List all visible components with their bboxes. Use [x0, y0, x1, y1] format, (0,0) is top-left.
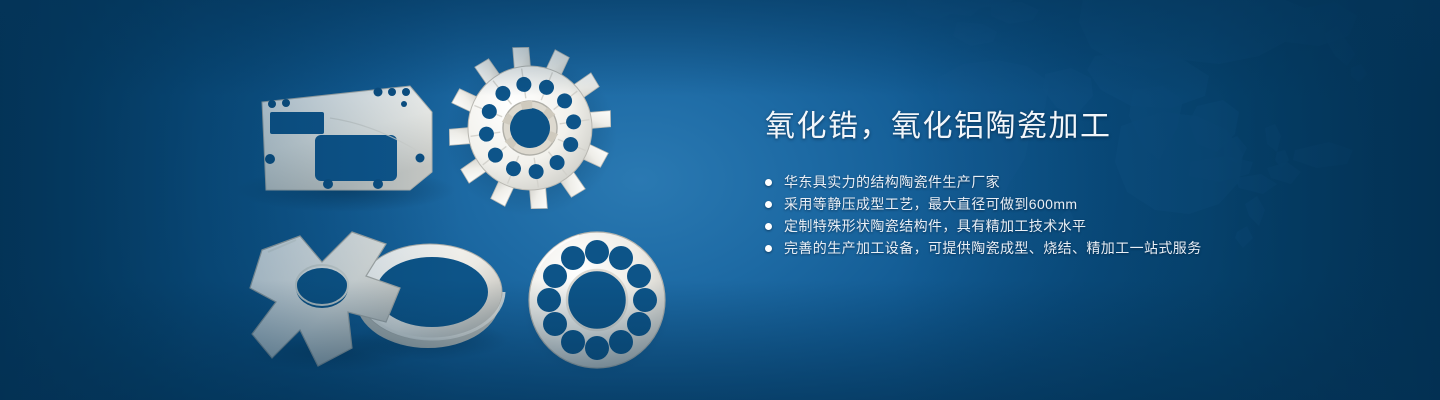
bullet-text: 定制特殊形状陶瓷结构件，具有精加工技术水平: [784, 215, 1086, 237]
promo-banner: 氧化锆，氧化铝陶瓷加工 华东具实力的结构陶瓷件生产厂家 采用等静压成型工艺，最大…: [0, 0, 1440, 400]
list-item: 定制特殊形状陶瓷结构件，具有精加工技术水平: [765, 215, 1385, 237]
feature-bullet-list: 华东具实力的结构陶瓷件生产厂家 采用等静压成型工艺，最大直径可做到600mm 定…: [765, 171, 1385, 259]
bullet-text: 采用等静压成型工艺，最大直径可做到600mm: [784, 193, 1077, 215]
bullet-text: 华东具实力的结构陶瓷件生产厂家: [784, 171, 1000, 193]
list-item: 华东具实力的结构陶瓷件生产厂家: [765, 171, 1385, 193]
bullet-text: 完善的生产加工设备，可提供陶瓷成型、烧结、精加工一站式服务: [784, 237, 1202, 259]
bullet-dot-icon: [765, 223, 772, 230]
list-item: 采用等静压成型工艺，最大直径可做到600mm: [765, 193, 1385, 215]
banner-copy: 氧化锆，氧化铝陶瓷加工 华东具实力的结构陶瓷件生产厂家 采用等静压成型工艺，最大…: [765, 108, 1385, 259]
list-item: 完善的生产加工设备，可提供陶瓷成型、烧结、精加工一站式服务: [765, 237, 1385, 259]
banner-headline: 氧化锆，氧化铝陶瓷加工: [765, 108, 1385, 146]
bullet-dot-icon: [765, 201, 772, 208]
bullet-dot-icon: [765, 245, 772, 252]
bullet-dot-icon: [765, 179, 772, 186]
